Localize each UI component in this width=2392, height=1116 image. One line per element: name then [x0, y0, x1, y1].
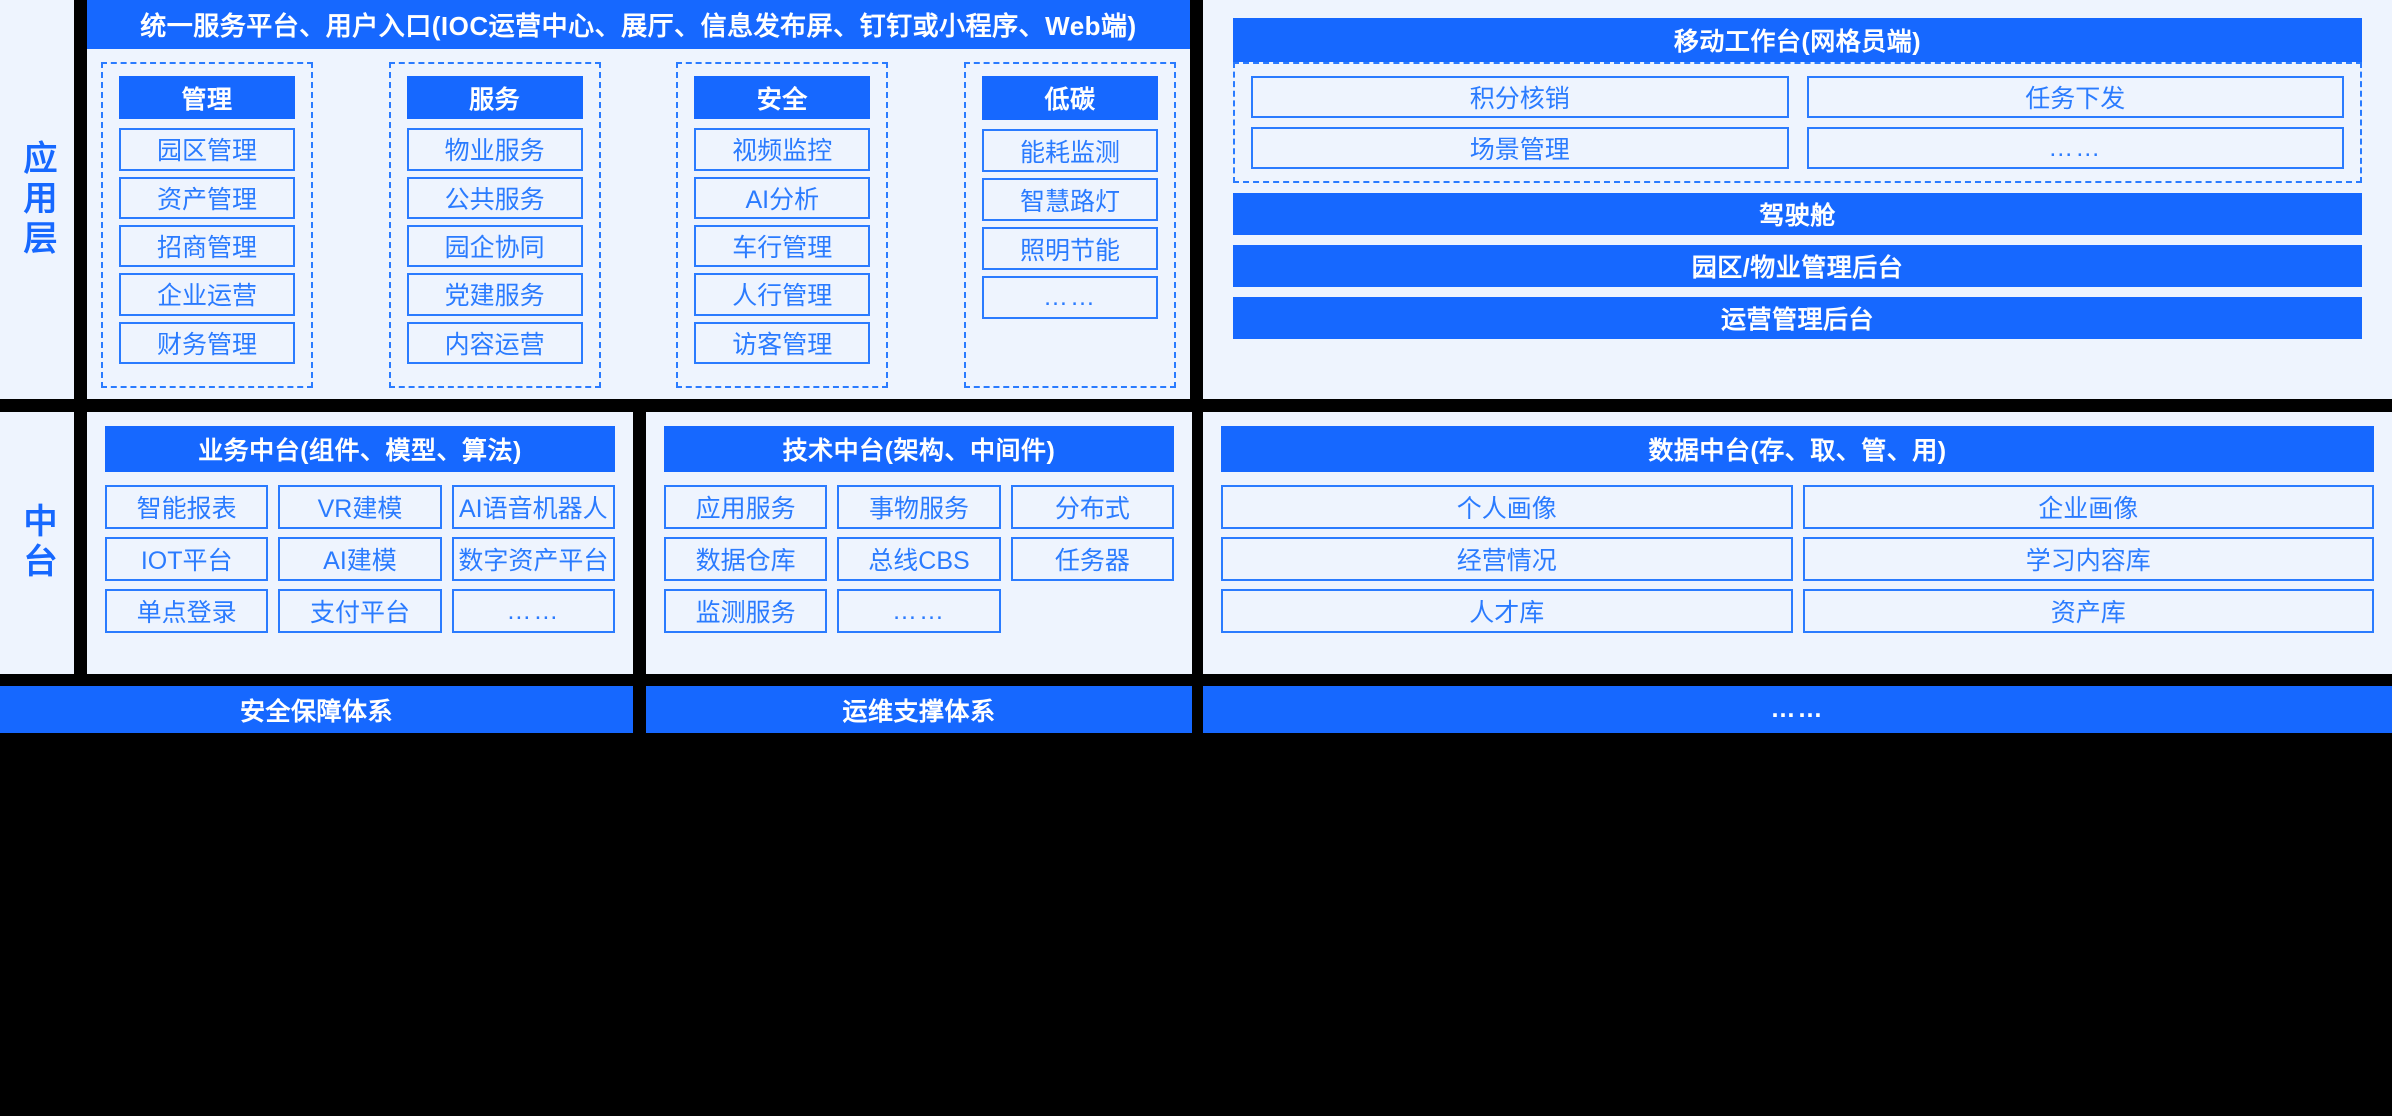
application-group-service: 服务 物业服务 公共服务 园企协同 党建服务 内容运营 — [389, 62, 601, 388]
data-item-enterprise-profile[interactable]: 企业画像 — [1803, 485, 2375, 529]
tech-item-monitoring-service[interactable]: 监测服务 — [664, 589, 827, 633]
tech-item-task-scheduler[interactable]: 任务器 — [1011, 537, 1174, 581]
biz-item-digital-asset-platform[interactable]: 数字资产平台 — [452, 537, 615, 581]
group-title-lowcarbon[interactable]: 低碳 — [982, 76, 1158, 120]
app-item-video-surveillance[interactable]: 视频监控 — [694, 128, 870, 170]
technical-middle-platform-panel: 技术中台(架构、中间件) 应用服务 事物服务 分布式 数据仓库 总线CBS 任务… — [646, 412, 1192, 674]
app-item-party-building-service[interactable]: 党建服务 — [407, 273, 583, 315]
application-group-security: 安全 视频监控 AI分析 车行管理 人行管理 访客管理 — [676, 62, 888, 388]
data-item-business-status[interactable]: 经营情况 — [1221, 537, 1793, 581]
mobile-workbench-card: 移动工作台(网格员端) 积分核销 任务下发 场景管理 …… — [1233, 18, 2362, 183]
app-item-content-operation[interactable]: 内容运营 — [407, 322, 583, 364]
application-layer-panel: 统一服务平台、用户入口(IOC运营中心、展厅、信息发布屏、钉钉或小程序、Web端… — [87, 0, 1190, 399]
app-item-lighting-energy-saving[interactable]: 照明节能 — [982, 227, 1158, 270]
group-title-management[interactable]: 管理 — [119, 76, 295, 119]
bottom-bar-ops-support-system[interactable]: 运维支撑体系 — [646, 686, 1192, 733]
biz-item-more[interactable]: …… — [452, 589, 615, 633]
data-middle-platform-grid: 个人画像 企业画像 经营情况 学习内容库 人才库 资产库 — [1221, 485, 2374, 633]
mobile-item-task-dispatch[interactable]: 任务下发 — [1807, 76, 2345, 118]
app-item-property-service[interactable]: 物业服务 — [407, 128, 583, 170]
layer-label-middle-text: 中台 — [20, 503, 54, 583]
app-item-finance-management[interactable]: 财务管理 — [119, 322, 295, 364]
application-column-container: 管理 园区管理 资产管理 招商管理 企业运营 财务管理 服务 物业服务 公共服务… — [87, 49, 1190, 399]
tech-item-bus-cbs[interactable]: 总线CBS — [837, 537, 1000, 581]
app-item-park-enterprise-collab[interactable]: 园企协同 — [407, 225, 583, 267]
biz-item-vr-modeling[interactable]: VR建模 — [278, 485, 441, 529]
data-item-asset-library[interactable]: 资产库 — [1803, 589, 2375, 633]
bottom-bar-security-system[interactable]: 安全保障体系 — [0, 686, 633, 733]
biz-item-iot-platform[interactable]: IOT平台 — [105, 537, 268, 581]
biz-item-ai-modeling[interactable]: AI建模 — [278, 537, 441, 581]
bar-park-property-admin[interactable]: 园区/物业管理后台 — [1233, 245, 2362, 287]
app-item-enterprise-operation[interactable]: 企业运营 — [119, 273, 295, 315]
app-item-energy-monitoring[interactable]: 能耗监测 — [982, 129, 1158, 172]
data-item-personal-profile[interactable]: 个人画像 — [1221, 485, 1793, 529]
application-group-management: 管理 园区管理 资产管理 招商管理 企业运营 财务管理 — [101, 62, 313, 388]
bottom-bar-more[interactable]: …… — [1203, 686, 2392, 733]
data-item-talent-pool[interactable]: 人才库 — [1221, 589, 1793, 633]
biz-item-smart-report[interactable]: 智能报表 — [105, 485, 268, 529]
app-item-ai-analysis[interactable]: AI分析 — [694, 177, 870, 219]
business-middle-platform-grid: 智能报表 VR建模 AI语音机器人 IOT平台 AI建模 数字资产平台 单点登录… — [105, 485, 615, 633]
app-item-public-service[interactable]: 公共服务 — [407, 177, 583, 219]
app-item-smart-streetlight[interactable]: 智慧路灯 — [982, 178, 1158, 221]
data-item-learning-content-library[interactable]: 学习内容库 — [1803, 537, 2375, 581]
layer-label-application: 应用层 — [0, 0, 74, 399]
app-item-investment-management[interactable]: 招商管理 — [119, 225, 295, 267]
application-group-lowcarbon: 低碳 能耗监测 智慧路灯 照明节能 …… — [964, 62, 1176, 388]
app-item-asset-management[interactable]: 资产管理 — [119, 177, 295, 219]
mobile-workbench-grid: 积分核销 任务下发 场景管理 …… — [1233, 62, 2362, 183]
layer-label-middle: 中台 — [0, 412, 74, 674]
mobile-item-more[interactable]: …… — [1807, 127, 2345, 169]
app-item-pedestrian-management[interactable]: 人行管理 — [694, 273, 870, 315]
architecture-diagram: 应用层 中台 统一服务平台、用户入口(IOC运营中心、展厅、信息发布屏、钉钉或小… — [0, 0, 2392, 1116]
business-middle-platform-title[interactable]: 业务中台(组件、模型、算法) — [105, 426, 615, 472]
mobile-workbench-title[interactable]: 移动工作台(网格员端) — [1233, 18, 2362, 62]
tech-item-application-service[interactable]: 应用服务 — [664, 485, 827, 529]
business-middle-platform-panel: 业务中台(组件、模型、算法) 智能报表 VR建模 AI语音机器人 IOT平台 A… — [87, 412, 633, 674]
right-top-panel: 移动工作台(网格员端) 积分核销 任务下发 场景管理 …… 驾驶舱 园区/物业管… — [1203, 0, 2392, 399]
mobile-item-scene-management[interactable]: 场景管理 — [1251, 127, 1789, 169]
data-middle-platform-title[interactable]: 数据中台(存、取、管、用) — [1221, 426, 2374, 472]
tech-item-more[interactable]: …… — [837, 589, 1000, 633]
bar-operation-admin[interactable]: 运营管理后台 — [1233, 297, 2362, 339]
group-title-security[interactable]: 安全 — [694, 76, 870, 119]
technical-middle-platform-title[interactable]: 技术中台(架构、中间件) — [664, 426, 1174, 472]
data-middle-platform-panel: 数据中台(存、取、管、用) 个人画像 企业画像 经营情况 学习内容库 人才库 资… — [1203, 412, 2392, 674]
tech-item-data-warehouse[interactable]: 数据仓库 — [664, 537, 827, 581]
tech-item-thing-service[interactable]: 事物服务 — [837, 485, 1000, 529]
biz-item-single-sign-on[interactable]: 单点登录 — [105, 589, 268, 633]
app-item-park-management[interactable]: 园区管理 — [119, 128, 295, 170]
app-item-lowcarbon-more[interactable]: …… — [982, 276, 1158, 319]
unified-platform-header: 统一服务平台、用户入口(IOC运营中心、展厅、信息发布屏、钉钉或小程序、Web端… — [87, 0, 1190, 49]
layer-label-application-text: 应用层 — [20, 140, 54, 260]
mobile-item-points-redemption[interactable]: 积分核销 — [1251, 76, 1789, 118]
app-item-visitor-management[interactable]: 访客管理 — [694, 322, 870, 364]
biz-item-payment-platform[interactable]: 支付平台 — [278, 589, 441, 633]
biz-item-ai-voice-robot[interactable]: AI语音机器人 — [452, 485, 615, 529]
tech-item-distributed[interactable]: 分布式 — [1011, 485, 1174, 529]
bar-cockpit[interactable]: 驾驶舱 — [1233, 193, 2362, 235]
app-item-vehicle-management[interactable]: 车行管理 — [694, 225, 870, 267]
technical-middle-platform-grid: 应用服务 事物服务 分布式 数据仓库 总线CBS 任务器 监测服务 …… — [664, 485, 1174, 633]
group-title-service[interactable]: 服务 — [407, 76, 583, 119]
